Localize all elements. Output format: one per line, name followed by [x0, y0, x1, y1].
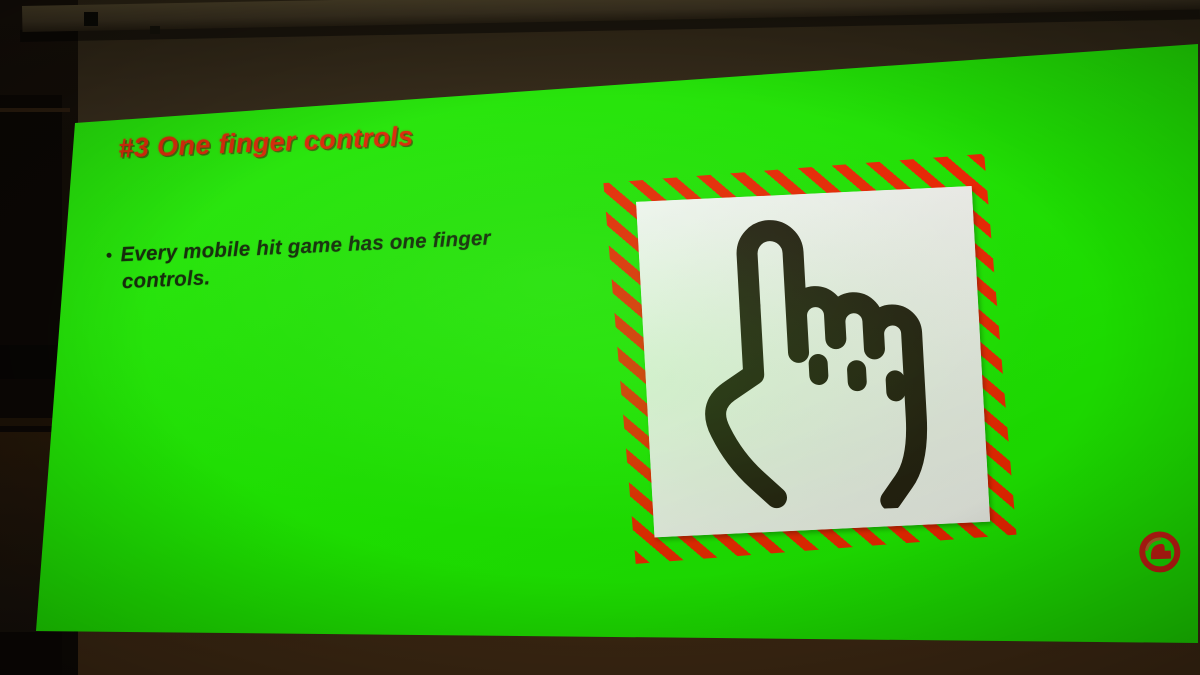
list-item: Every mobile hit game has one finger con…	[106, 223, 528, 296]
page-title: #3 One finger controls	[118, 121, 415, 164]
photo-card	[636, 186, 990, 537]
pointing-hand-icon	[671, 206, 955, 518]
ceiling-rail-screw	[150, 26, 160, 34]
bullet-dot-icon	[106, 253, 111, 258]
ceiling-rail-bracket	[84, 12, 98, 26]
brand-logo	[1136, 528, 1184, 575]
illustration-group	[612, 161, 1028, 583]
bullet-list: Every mobile hit game has one finger con…	[106, 223, 528, 296]
projector-room-photo: #3 One finger controls Every mobile hit …	[0, 0, 1200, 675]
bullet-item-label: Every mobile hit game has one finger con…	[120, 223, 528, 295]
slide-canvas: #3 One finger controls Every mobile hit …	[36, 44, 1200, 644]
wall-seam	[0, 108, 70, 112]
red-circle-creature-logo-icon	[1136, 528, 1184, 575]
